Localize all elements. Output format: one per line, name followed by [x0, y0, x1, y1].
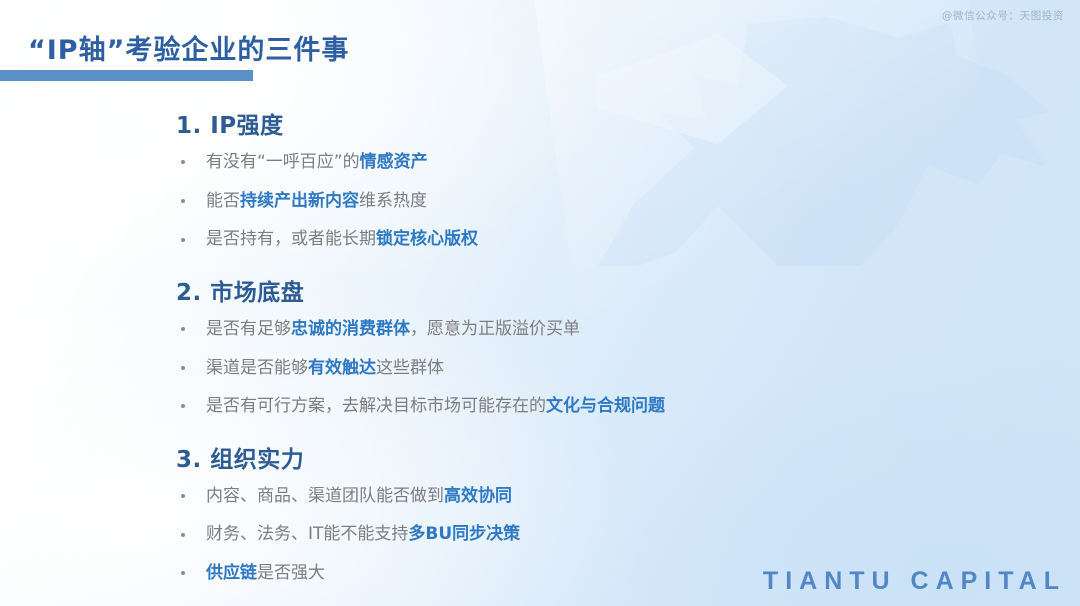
bullet-list: 是否有足够忠诚的消费群体，愿意为正版溢价买单 渠道是否能够有效触达这些群体 是否…: [176, 313, 1036, 423]
bullet-dot-icon: [181, 571, 185, 575]
bullet-text-plain: 是否持有，或者能长期: [206, 229, 376, 249]
list-item: 内容、商品、渠道团队能否做到高效协同: [176, 480, 1036, 513]
page-title: “IP轴”考验企业的三件事: [28, 28, 349, 67]
section-heading: 3. 组织实力: [176, 440, 1036, 474]
section-ip-strength: 1. IP强度 有没有“一呼百应”的情感资产 能否持续产出新内容维系热度 是否持…: [176, 106, 1036, 256]
bullet-dot-icon: [181, 366, 185, 370]
bullet-text-emphasis: 供应链: [206, 563, 257, 583]
list-item: 财务、法务、IT能不能支持多BU同步决策: [176, 518, 1036, 551]
bullet-dot-icon: [181, 160, 185, 164]
bullet-text-emphasis: 忠诚的消费群体: [291, 319, 410, 339]
bullet-dot-icon: [181, 199, 185, 203]
bullet-text-emphasis: 有效触达: [308, 358, 376, 378]
account-watermark: @微信公众号：天图投资: [942, 8, 1064, 23]
list-item: 是否有足够忠诚的消费群体，愿意为正版溢价买单: [176, 313, 1036, 346]
bullet-text-emphasis: 多BU同步决策: [408, 524, 520, 544]
bullet-list: 有没有“一呼百应”的情感资产 能否持续产出新内容维系热度 是否持有，或者能长期锁…: [176, 146, 1036, 256]
list-item: 有没有“一呼百应”的情感资产: [176, 146, 1036, 179]
list-item: 是否有可行方案，去解决目标市场可能存在的文化与合规问题: [176, 390, 1036, 423]
company-brand-footer: TIANTU CAPITAL: [763, 567, 1066, 596]
bullet-text-plain: 是否有可行方案，去解决目标市场可能存在的: [206, 396, 546, 416]
bullet-text-plain: 渠道是否能够: [206, 358, 308, 378]
bullet-text-plain: 能否: [206, 191, 240, 211]
bullet-text-plain: 有没有“一呼百应”的: [206, 152, 360, 172]
bullet-text-plain: 这些群体: [376, 358, 444, 378]
section-heading: 1. IP强度: [176, 106, 1036, 140]
bullet-text-plain: 是否强大: [257, 563, 325, 583]
section-heading: 2. 市场底盘: [176, 273, 1036, 307]
bullet-text-emphasis: 持续产出新内容: [240, 191, 359, 211]
list-item: 渠道是否能够有效触达这些群体: [176, 352, 1036, 385]
list-item: 能否持续产出新内容维系热度: [176, 185, 1036, 218]
list-item: 是否持有，或者能长期锁定核心版权: [176, 223, 1036, 256]
slide-content: 1. IP强度 有没有“一呼百应”的情感资产 能否持续产出新内容维系热度 是否持…: [176, 106, 1036, 590]
bullet-text-plain: 是否有足够: [206, 319, 291, 339]
bullet-dot-icon: [181, 533, 185, 537]
bullet-text-emphasis: 高效协同: [444, 486, 512, 506]
bullet-text-plain: ，愿意为正版溢价买单: [410, 319, 580, 339]
bullet-text-plain: 内容、商品、渠道团队能否做到: [206, 486, 444, 506]
presentation-slide: @微信公众号：天图投资 “IP轴”考验企业的三件事 1. IP强度 有没有“一呼…: [0, 0, 1080, 606]
bullet-dot-icon: [181, 327, 185, 331]
bullet-dot-icon: [181, 238, 185, 242]
bullet-dot-icon: [181, 494, 185, 498]
title-accent-bar: [0, 70, 253, 81]
bullet-text-emphasis: 锁定核心版权: [376, 229, 478, 249]
bullet-text-emphasis: 文化与合规问题: [546, 396, 665, 416]
bullet-text-plain: 财务、法务、IT能不能支持: [206, 524, 408, 544]
bullet-text-plain: 维系热度: [359, 191, 427, 211]
section-market-base: 2. 市场底盘 是否有足够忠诚的消费群体，愿意为正版溢价买单 渠道是否能够有效触…: [176, 273, 1036, 423]
bullet-text-emphasis: 情感资产: [360, 152, 428, 172]
bullet-dot-icon: [181, 404, 185, 408]
